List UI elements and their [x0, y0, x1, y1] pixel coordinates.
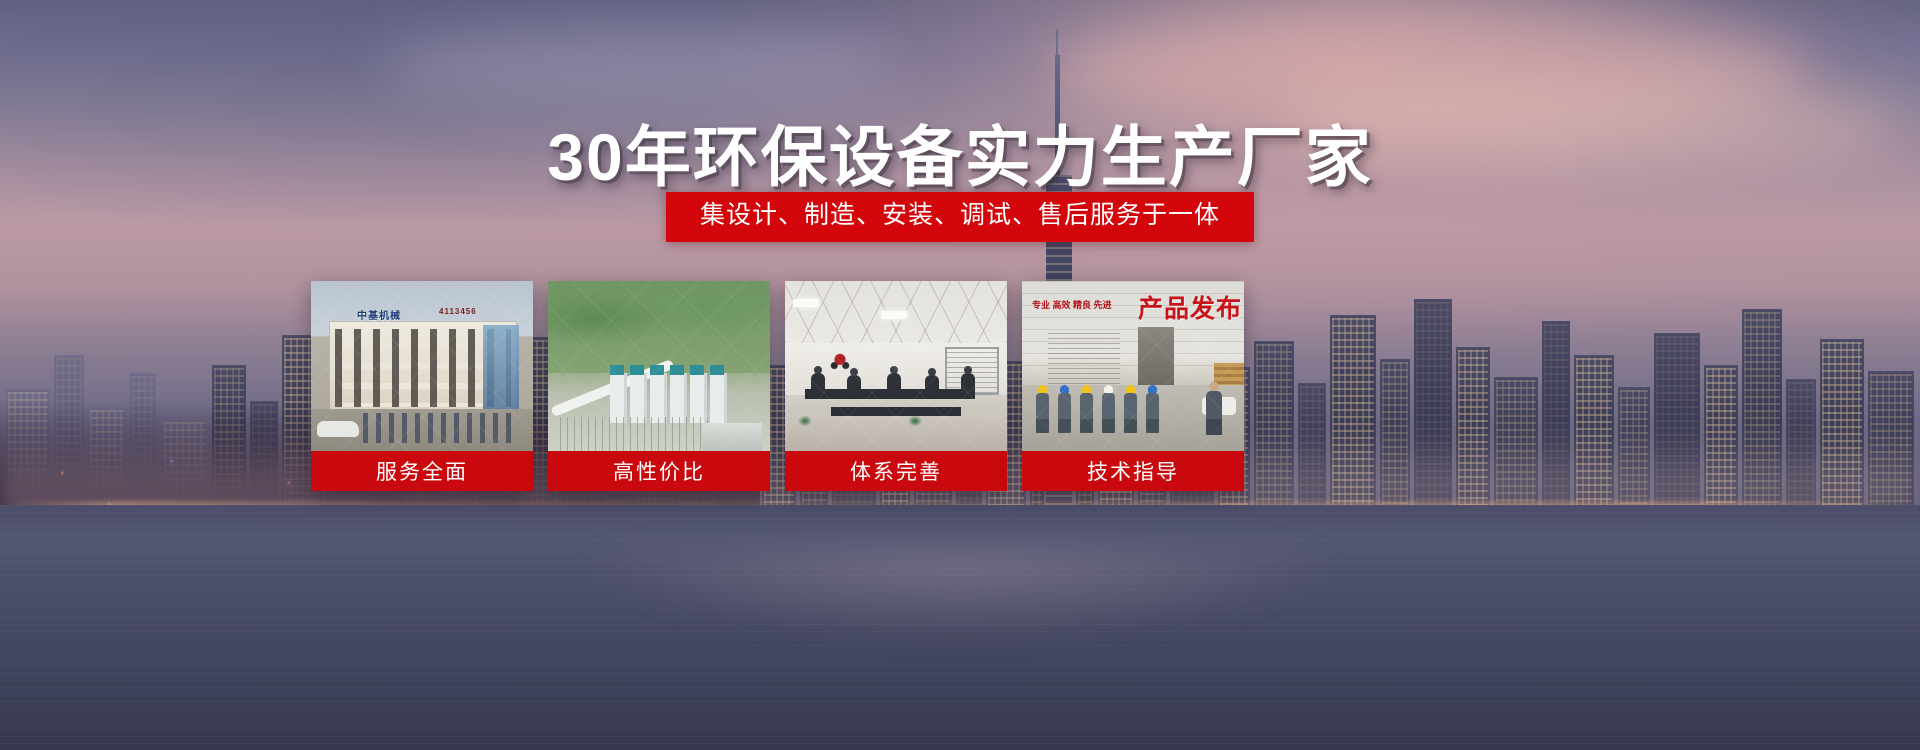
office-interior-photo [785, 281, 1007, 451]
feature-card-row: 中基机械 4113456 服务全面 高性价比 [311, 281, 1244, 491]
worker-figure [1124, 393, 1137, 433]
office-floor [785, 413, 1007, 451]
parked-car [317, 421, 359, 437]
feature-card[interactable]: 体系完善 [785, 281, 1007, 491]
worker-figure [1058, 393, 1071, 433]
company-sign-text: 中基机械 [357, 307, 401, 322]
worker-figure [1036, 393, 1049, 433]
factory-banner-text: 产品发布 [1138, 289, 1242, 325]
hard-hat-icon [1082, 385, 1091, 393]
water-reflection-glow [410, 550, 1510, 750]
factory-shed-secondary [702, 423, 762, 451]
hard-hat-icon [1060, 385, 1069, 393]
worker-figure [1146, 393, 1159, 433]
hero-banner: 30年环保设备实力生产厂家 集设计、制造、安装、调试、售后服务于一体 中基机械 … [0, 0, 1920, 750]
ceiling-light-panel [881, 311, 907, 319]
office-worker [961, 373, 975, 393]
hard-hat-icon [1126, 385, 1135, 393]
potted-plant [795, 413, 815, 429]
building-glass-facade [483, 325, 519, 417]
roller-shutter-door [1048, 333, 1120, 385]
ceiling-light-panel [793, 299, 819, 307]
aerial-factory-plant-photo [548, 281, 770, 451]
silo-tops [610, 365, 730, 375]
card-label: 技术指导 [1022, 451, 1244, 491]
card-label: 高性价比 [548, 451, 770, 491]
factory-door [1138, 327, 1174, 385]
green-field [548, 281, 770, 373]
hard-hat-icon [1148, 385, 1157, 393]
card-label: 体系完善 [785, 451, 1007, 491]
factory-gate-workers-photo: 产品发布 专业 高效 精良 先进 [1022, 281, 1244, 451]
potted-plant [905, 413, 925, 429]
feature-card[interactable]: 产品发布 专业 高效 精良 先进 技术指导 [1022, 281, 1244, 491]
subtitle-container: 集设计、制造、安装、调试、售后服务于一体 [0, 192, 1920, 242]
worker-figure [1080, 393, 1093, 433]
feature-card[interactable]: 高性价比 [548, 281, 770, 491]
office-worker [887, 373, 901, 393]
office-worker [847, 375, 861, 395]
factory-shed [560, 417, 710, 451]
subtitle-badge: 集设计、制造、安装、调试、售后服务于一体 [666, 192, 1254, 242]
phone-number-text: 4113456 [439, 307, 477, 316]
supervisor-figure [1206, 391, 1222, 435]
hard-hat-icon [1038, 385, 1047, 393]
page-title: 30年环保设备实力生产厂家 [0, 104, 1920, 200]
office-worker [925, 375, 939, 395]
feature-card[interactable]: 中基机械 4113456 服务全面 [311, 281, 533, 491]
wall-logo-decal [827, 351, 853, 373]
office-worker [811, 373, 825, 393]
hard-hat-icon [1104, 385, 1113, 393]
card-label: 服务全面 [311, 451, 533, 491]
staff-lineup [363, 413, 513, 443]
worker-figure [1102, 393, 1115, 433]
factory-side-slogan: 专业 高效 精良 先进 [1032, 299, 1112, 313]
company-headquarters-photo: 中基机械 4113456 [311, 281, 533, 451]
office-desk [831, 407, 961, 416]
storage-silos [610, 373, 730, 423]
